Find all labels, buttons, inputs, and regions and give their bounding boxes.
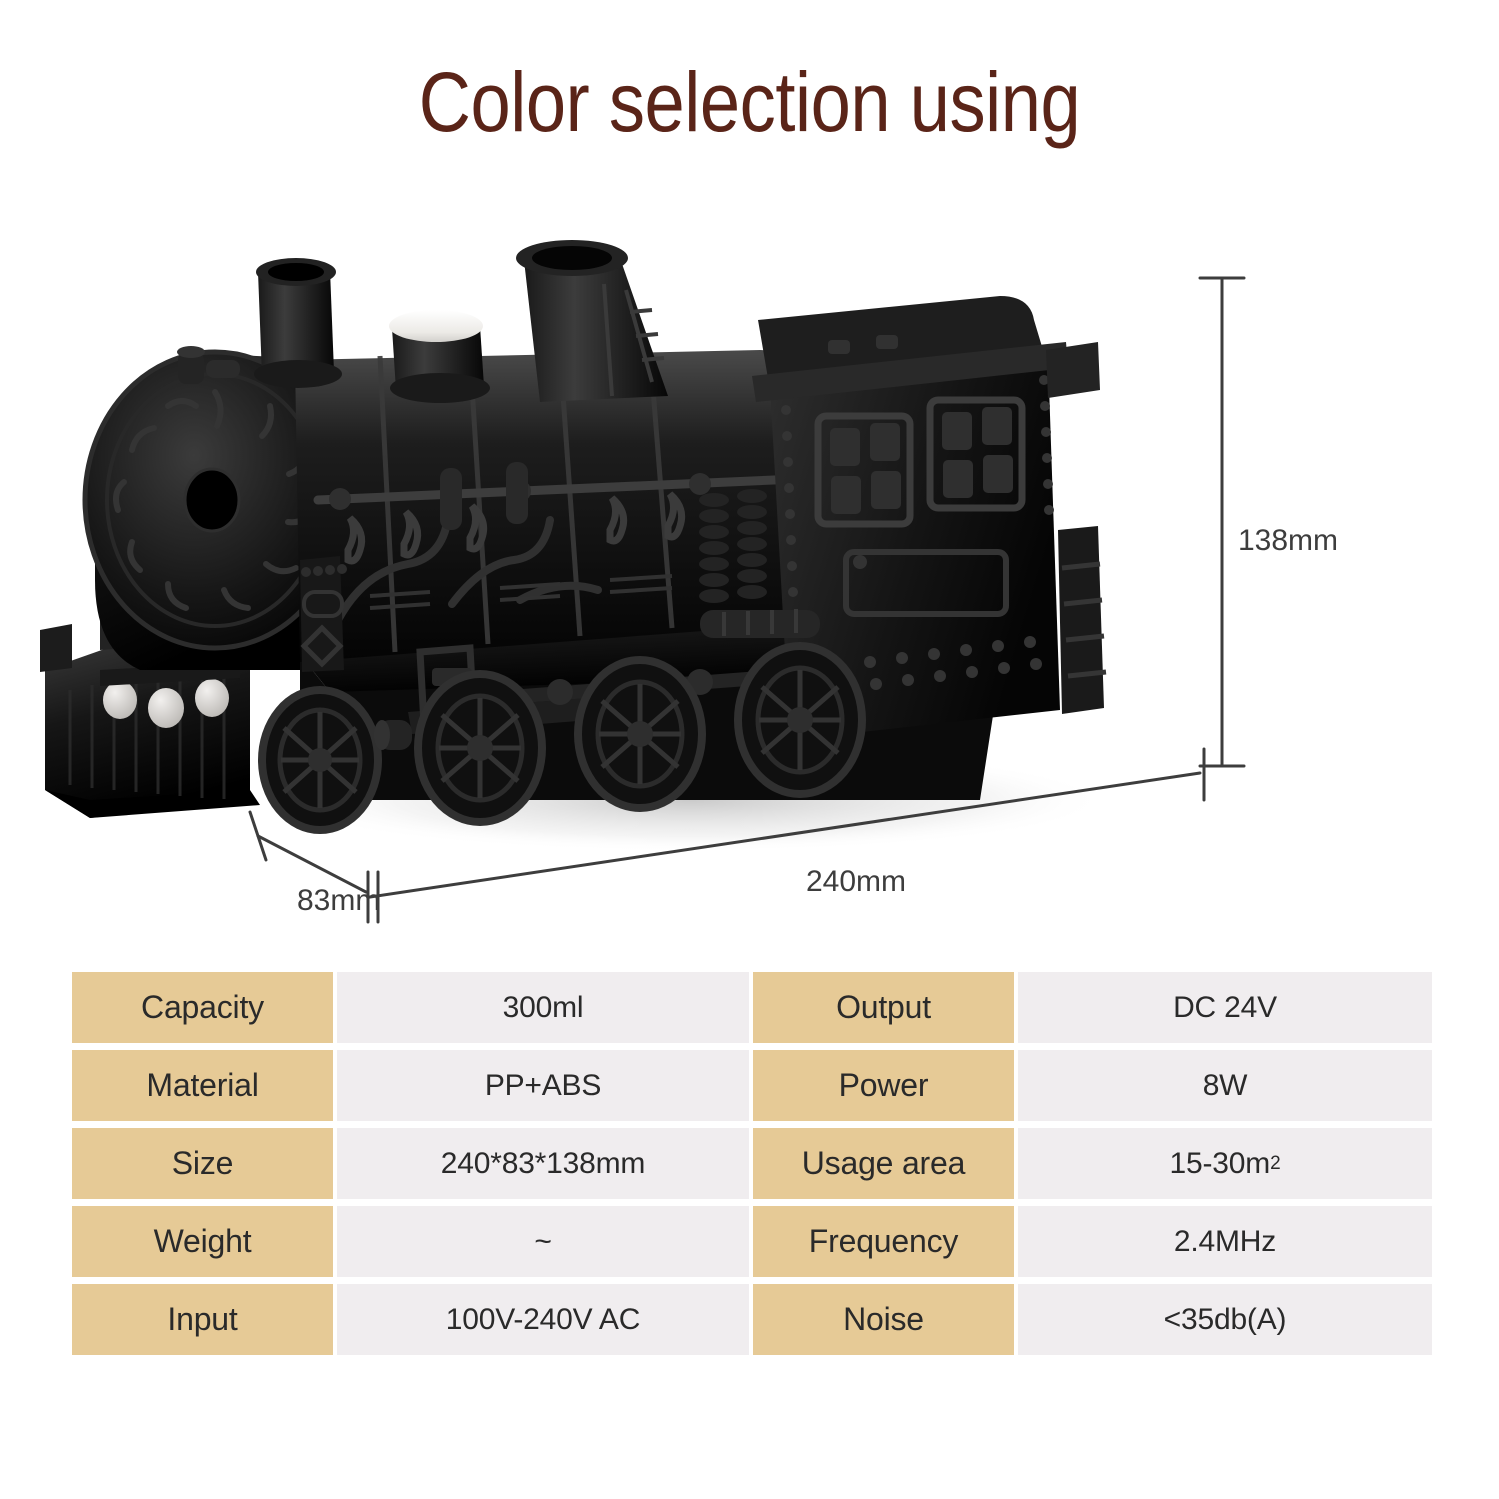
spec-label-output: Output <box>753 972 1014 1043</box>
side-panel <box>300 556 347 672</box>
spec-value-material: PP+ABS <box>337 1050 749 1121</box>
spec-value-capacity: 300ml <box>337 972 749 1043</box>
spec-value-usage-area: 15-30m2 <box>1018 1128 1432 1199</box>
spec-label-power: Power <box>753 1050 1014 1121</box>
rear-ladder <box>1058 526 1106 714</box>
wheel <box>578 660 702 808</box>
chimney <box>254 258 342 388</box>
wheel <box>738 646 862 794</box>
headlight-lamp <box>103 681 137 719</box>
spec-label-noise: Noise <box>753 1284 1014 1355</box>
spec-value-noise: <35db(A) <box>1018 1284 1432 1355</box>
dimension-height <box>1200 278 1244 766</box>
spec-value-size: 240*83*138mm <box>337 1128 749 1199</box>
spec-label-size: Size <box>72 1128 333 1199</box>
specification-table: Capacity 300ml Output DC 24V Material PP… <box>72 972 1428 1355</box>
spec-value-output: DC 24V <box>1018 972 1432 1043</box>
dimension-width-label: 240mm <box>806 865 906 899</box>
product-spec-page: Color selection using <box>0 0 1499 1499</box>
usage-area-exponent: 2 <box>1270 1153 1280 1175</box>
funnel <box>516 240 668 402</box>
spec-value-weight: ~ <box>337 1206 749 1277</box>
spec-label-input: Input <box>72 1284 333 1355</box>
page-title: Color selection using <box>105 60 1394 144</box>
headlight-lamp <box>195 679 229 717</box>
dimension-depth-label: 83mm <box>297 884 380 918</box>
spec-value-input: 100V-240V AC <box>337 1284 749 1355</box>
steam-dome <box>389 310 490 403</box>
piston-cylinder <box>374 720 412 750</box>
steam-chest <box>700 609 820 638</box>
spec-label-usage-area: Usage area <box>753 1128 1014 1199</box>
wheel <box>418 674 542 822</box>
headlight-lamp <box>148 688 184 728</box>
product-image-area <box>0 200 1499 960</box>
spec-value-power: 8W <box>1018 1050 1432 1121</box>
wheel <box>262 690 378 830</box>
spec-label-capacity: Capacity <box>72 972 333 1043</box>
usage-area-base: 15-30m <box>1170 1147 1271 1181</box>
dome-cap <box>389 310 483 342</box>
spec-value-frequency: 2.4MHz <box>1018 1206 1432 1277</box>
dimension-height-label: 138mm <box>1238 524 1338 558</box>
spec-label-frequency: Frequency <box>753 1206 1014 1277</box>
spec-label-material: Material <box>72 1050 333 1121</box>
spec-label-weight: Weight <box>72 1206 333 1277</box>
